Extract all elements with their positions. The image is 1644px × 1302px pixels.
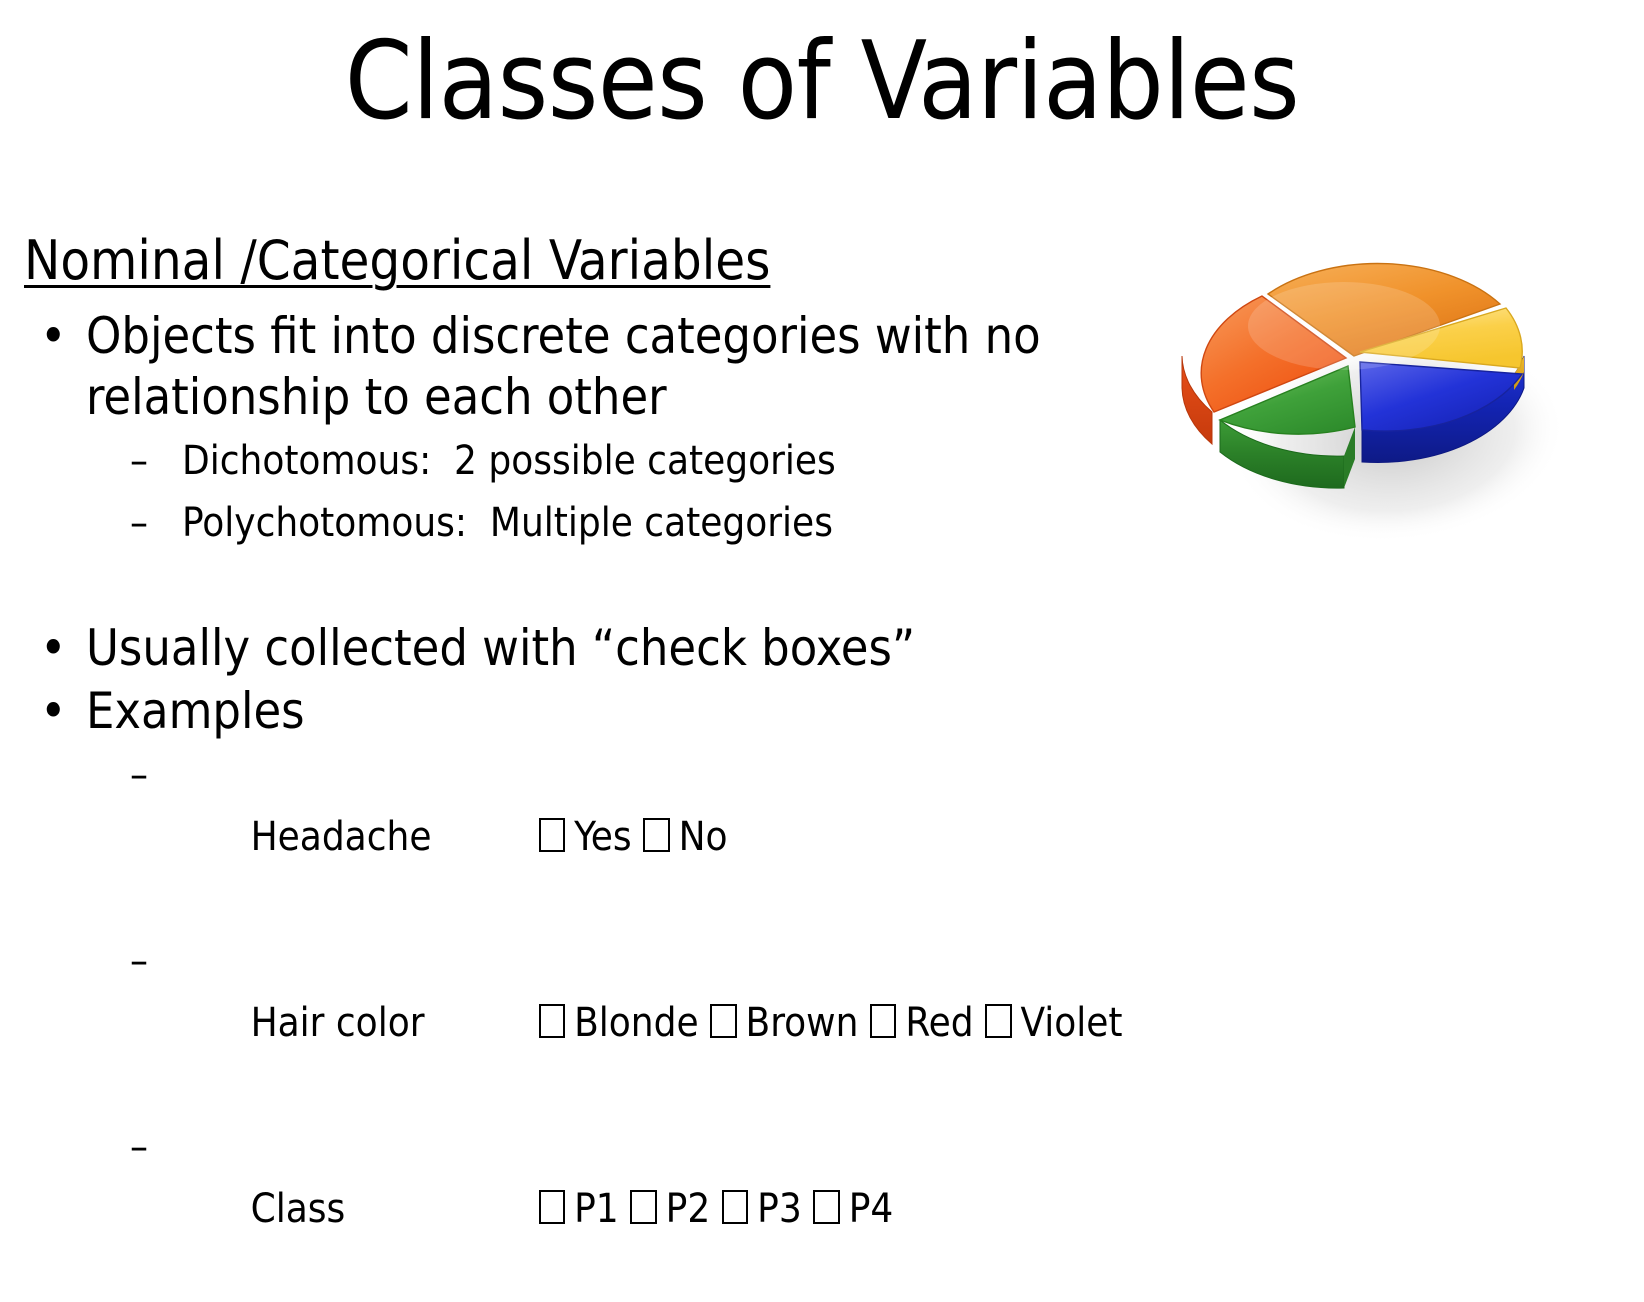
example-line: HeadacheYes No xyxy=(182,744,1114,930)
bullet-glyph: • xyxy=(24,306,86,367)
example-row-headache: – HeadacheYes No xyxy=(24,744,1114,930)
bullet-glyph: • xyxy=(24,618,86,679)
dash-glyph: – xyxy=(24,744,182,806)
sub-bullet-text: Dichotomous: 2 possible categories xyxy=(182,430,1114,492)
bullet-text: Objects fit into discrete categories wit… xyxy=(86,306,1114,428)
dash-glyph: – xyxy=(24,430,182,492)
example-label: Hair color xyxy=(251,992,539,1054)
page-title: Classes of Variables xyxy=(0,22,1644,143)
checkbox-icon[interactable] xyxy=(870,1004,897,1039)
checkbox-icon[interactable] xyxy=(630,1190,657,1225)
checkbox-label: Red xyxy=(905,1000,973,1046)
checkbox-icon[interactable] xyxy=(985,1004,1012,1039)
bullet-item: • Objects fit into discrete categories w… xyxy=(24,306,1114,428)
pie-chart-image xyxy=(1148,176,1568,556)
example-line: ClassP1 P2 P3 P4 xyxy=(182,1116,1114,1302)
dash-glyph: – xyxy=(24,930,182,992)
pie-highlight xyxy=(1248,282,1440,370)
checkbox-icon[interactable] xyxy=(710,1004,737,1039)
checkbox-label: P3 xyxy=(757,1186,802,1232)
section-heading: Nominal /Categorical Variables xyxy=(24,232,1114,290)
example-label: Headache xyxy=(251,806,539,868)
checkbox-label: Violet xyxy=(1021,1000,1123,1046)
checkbox-label: P2 xyxy=(666,1186,711,1232)
dash-glyph: – xyxy=(24,1116,182,1178)
checkbox-label: Blonde xyxy=(574,1000,699,1046)
bullet-item: • Examples xyxy=(24,681,1114,742)
checkbox-icon[interactable] xyxy=(539,1190,566,1225)
example-row-class: – ClassP1 P2 P3 P4 xyxy=(24,1116,1114,1302)
checkbox-icon[interactable] xyxy=(539,1004,566,1039)
sub-bullet-item: – Dichotomous: 2 possible categories xyxy=(24,430,1114,492)
sub-bullet-text: Polychotomous: Multiple categories xyxy=(182,492,1114,554)
checkbox-icon[interactable] xyxy=(539,818,566,853)
checkbox-label: P4 xyxy=(849,1186,894,1232)
bullet-text: Examples xyxy=(86,681,1114,742)
body-content: Nominal /Categorical Variables • Objects… xyxy=(24,232,1114,1302)
checkbox-label: P1 xyxy=(574,1186,619,1232)
checkbox-icon[interactable] xyxy=(813,1190,840,1225)
sub-bullet-item: – Polychotomous: Multiple categories xyxy=(24,492,1114,554)
dash-glyph: – xyxy=(24,492,182,554)
checkbox-label: No xyxy=(679,814,728,860)
example-label: Class xyxy=(251,1178,539,1240)
bullet-text: Usually collected with “check boxes” xyxy=(86,618,1114,679)
bullet-glyph: • xyxy=(24,681,86,742)
checkbox-icon[interactable] xyxy=(643,818,670,853)
checkbox-icon[interactable] xyxy=(722,1190,749,1225)
checkbox-label: Yes xyxy=(574,814,632,860)
checkbox-label: Brown xyxy=(746,1000,859,1046)
example-line: Hair colorBlonde Brown Red Violet xyxy=(182,930,1123,1116)
example-row-hair-color: – Hair colorBlonde Brown Red Violet xyxy=(24,930,1114,1116)
bullet-item: • Usually collected with “check boxes” xyxy=(24,618,1114,679)
blank-line-spacer xyxy=(24,554,1114,618)
